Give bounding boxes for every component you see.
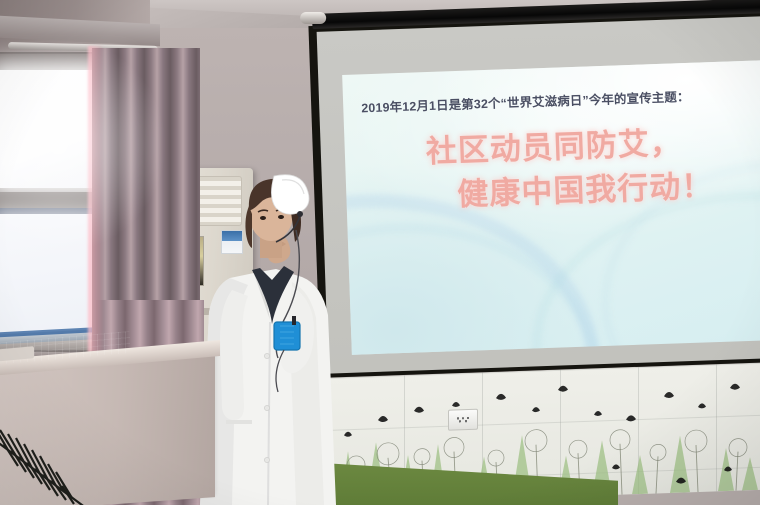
presentation-slide: 2019年12月1日是第32个“世界艾滋病日”今年的宣传主题： 社区动员同防艾，… <box>342 60 760 355</box>
coat-button <box>264 353 269 358</box>
headset-earpiece <box>297 211 303 217</box>
plant-frond <box>0 420 96 505</box>
coat-button <box>264 457 269 462</box>
eye-right <box>278 215 284 219</box>
person-figure <box>196 170 356 505</box>
hair-side-left <box>245 206 252 248</box>
screen-surface: 2019年12月1日是第32个“世界艾滋病日”今年的宣传主题： 社区动员同防艾，… <box>317 16 760 374</box>
coat-button <box>264 405 269 410</box>
wall-power-socket[interactable] <box>448 409 478 431</box>
nurse-presenter <box>196 170 356 505</box>
projection-screen: 2019年12月1日是第32个“世界艾滋病日”今年的宣传主题： 社区动员同防艾，… <box>312 0 760 394</box>
photo-scene: 2019年12月1日是第32个“世界艾滋病日”今年的宣传主题： 社区动员同防艾，… <box>0 0 760 505</box>
foreground-plant <box>0 420 96 505</box>
eye-left <box>260 216 266 220</box>
pack-antenna <box>292 316 296 325</box>
screen-roller-cap <box>300 12 326 24</box>
slide-title: 社区动员同防艾， 健康中国我行动！ <box>344 118 760 221</box>
coat-pocket <box>226 420 252 424</box>
slide-header-text: 2019年12月1日是第32个“世界艾滋病日”今年的宣传主题： <box>361 84 760 116</box>
